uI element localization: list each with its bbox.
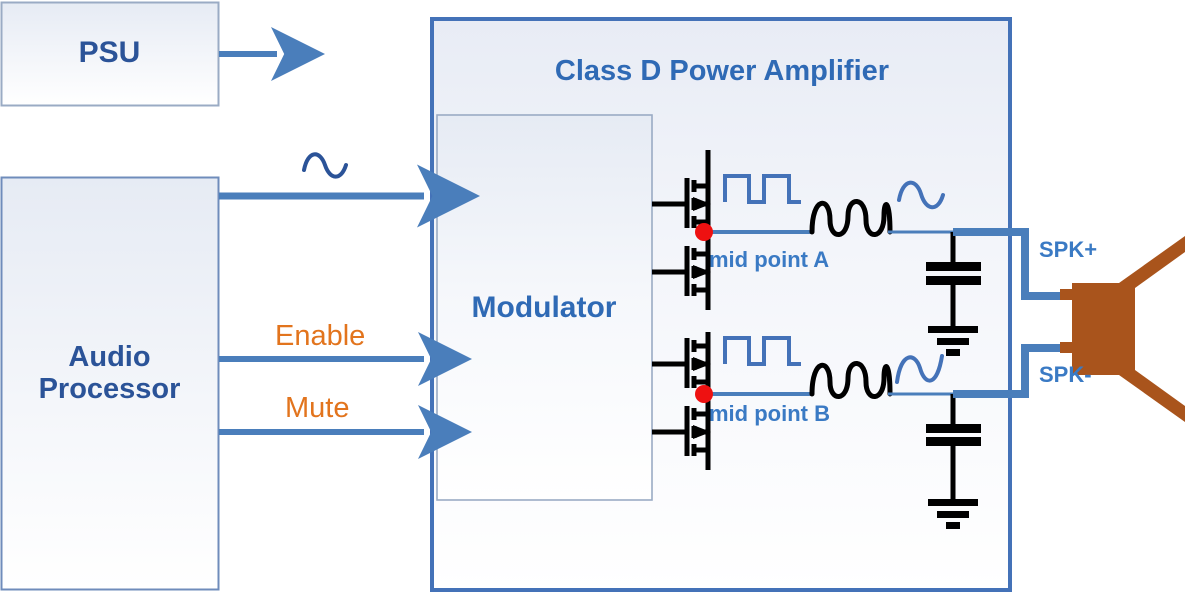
amplifier-title: Class D Power Amplifier [432, 55, 1012, 87]
audio-processor-label-line2: Processor [0, 373, 219, 405]
enable-signal-label: Enable [275, 320, 365, 352]
spk-plus-label: SPK+ [1039, 238, 1097, 263]
capacitor-b-plate-top [926, 424, 981, 433]
audio-processor-label: Audio Processor [0, 341, 219, 406]
midpoint-a-label: mid point A [709, 248, 829, 273]
loudspeaker-icon [1060, 236, 1185, 422]
spk-minus-label: SPK- [1039, 363, 1092, 388]
capacitor-a-plate-bottom [926, 276, 981, 285]
sine-audio-in-icon [304, 154, 346, 176]
diagram-canvas: PSU Audio Processor Class D Power Amplif… [0, 0, 1185, 596]
audio-processor-label-line1: Audio [0, 341, 219, 373]
psu-label: PSU [0, 36, 219, 70]
midpoint-b-label: mid point B [709, 402, 830, 427]
capacitor-a-plate-top [926, 262, 981, 271]
midpoint-a-node [695, 223, 713, 241]
modulator-label: Modulator [434, 291, 654, 325]
capacitor-b-plate-bottom [926, 437, 981, 446]
mute-signal-label: Mute [285, 392, 349, 424]
